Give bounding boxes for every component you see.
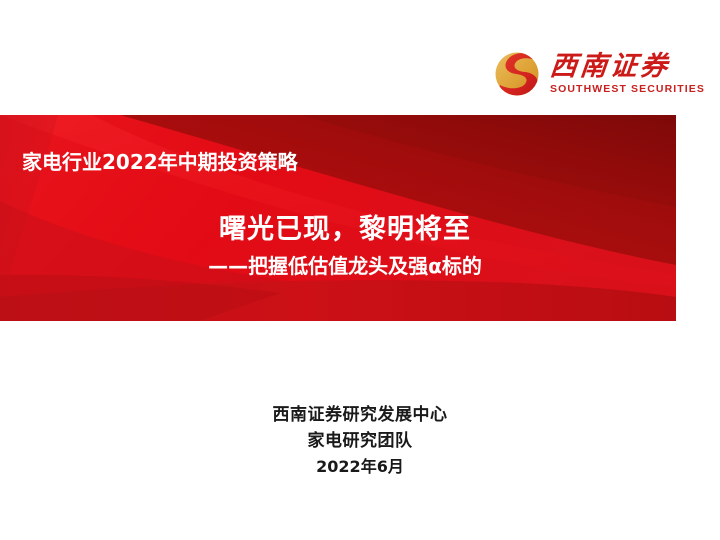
research-center-name: 西南证券研究发展中心 [0, 402, 720, 428]
slide-kicker: 家电行业2022年中期投资策略 [22, 149, 298, 175]
logo-chinese-name: 西南证券 [548, 52, 706, 82]
slide-headline: 曙光已现，黎明将至 [0, 213, 676, 247]
company-logo: 西南证券 SOUTHWEST SECURITIES [492, 44, 692, 104]
research-team-name: 家电研究团队 [0, 428, 720, 454]
logo-english-name: SOUTHWEST SECURITIES [550, 83, 705, 96]
slide-subhead: ——把握低估值龙头及强α标的 [0, 253, 676, 279]
banner-text-layer: 家电行业2022年中期投资策略 曙光已现，黎明将至 ——把握低估值龙头及强α标的 [0, 115, 676, 321]
publication-date: 2022年6月 [0, 454, 720, 480]
title-banner: 家电行业2022年中期投资策略 曙光已现，黎明将至 ——把握低估值龙头及强α标的 [0, 115, 676, 321]
logo-wordmark: 西南证券 SOUTHWEST SECURITIES [550, 52, 705, 96]
southwest-securities-emblem-icon [492, 49, 542, 99]
author-block: 西南证券研究发展中心 家电研究团队 2022年6月 [0, 402, 720, 480]
presentation-title-slide: 西南证券 SOUTHWEST SECURITIES [0, 0, 720, 540]
